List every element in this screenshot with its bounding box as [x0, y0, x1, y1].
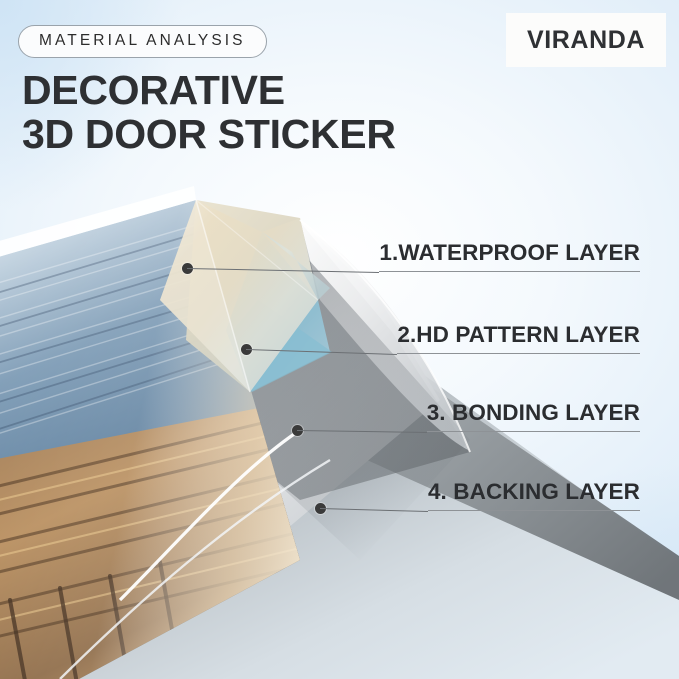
callout-rule-1 — [379, 271, 640, 272]
callout-bonding-layer: 3. BONDING LAYER — [427, 400, 640, 432]
brand-logo: VIRANDA — [506, 13, 666, 67]
brand-name: VIRANDA — [527, 26, 645, 55]
callout-label-2: 2.HD PATTERN LAYER — [397, 322, 640, 352]
title-line-2: 3D DOOR STICKER — [22, 112, 396, 156]
callout-hd-pattern-layer: 2.HD PATTERN LAYER — [397, 322, 640, 354]
eyebrow-badge: MATERIAL ANALYSIS — [18, 25, 267, 58]
callout-rule-2 — [397, 353, 640, 354]
title-line-1: DECORATIVE — [22, 67, 285, 113]
callout-rule-3 — [427, 431, 640, 432]
callout-label-1: 1.WATERPROOF LAYER — [379, 240, 640, 270]
callout-backing-layer: 4. BACKING LAYER — [428, 479, 640, 511]
callout-waterproof-layer: 1.WATERPROOF LAYER — [379, 240, 640, 272]
page-title: DECORATIVE 3D DOOR STICKER — [22, 68, 396, 156]
poster-canvas: MATERIAL ANALYSIS DECORATIVE 3D DOOR STI… — [0, 0, 679, 679]
callout-label-3: 3. BONDING LAYER — [427, 400, 640, 430]
callout-rule-4 — [428, 510, 640, 511]
eyebrow-label: MATERIAL ANALYSIS — [39, 32, 246, 49]
callout-label-4: 4. BACKING LAYER — [428, 479, 640, 509]
